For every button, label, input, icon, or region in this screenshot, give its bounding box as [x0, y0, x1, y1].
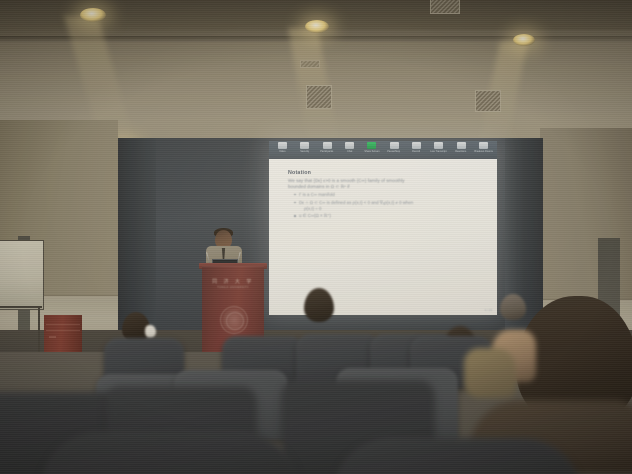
podium-english-name: TONGJI UNIVERSITY — [202, 286, 264, 289]
shield-icon — [300, 142, 309, 149]
hvac-vent — [430, 0, 460, 14]
toolbar-label: Breakout Rooms — [474, 150, 493, 153]
pause-icon — [390, 142, 399, 149]
toolbar-item-transcript[interactable]: Live Transcript — [430, 142, 448, 153]
toolbar-item-chat[interactable]: Chat — [340, 142, 358, 153]
lecture-hall-photo: Mic Video Security Participants Chat Sha… — [0, 0, 632, 474]
transcript-icon — [434, 142, 443, 149]
slide-bullet: Γ is a C∞ manifold — [299, 192, 478, 198]
toolbar-item-breakout-rooms[interactable]: Breakout Rooms — [475, 142, 493, 153]
audience-sleeve-right — [464, 348, 516, 398]
presentation-slide: Notation We say that {Dε} ε>0 is a smoot… — [269, 159, 497, 315]
toolbar-item-share-screen[interactable]: Share Screen — [363, 142, 381, 153]
hvac-vent — [300, 60, 320, 68]
toolbar-label: Video — [279, 150, 285, 153]
slide-content: Notation We say that {Dε} ε>0 is a smoot… — [288, 170, 478, 219]
toolbar-item-record[interactable]: Record — [408, 142, 426, 153]
breakout-rooms-icon — [479, 142, 488, 149]
toolbar-item-video[interactable]: Video — [273, 142, 291, 153]
slide-bullet-continuation: ρ(x,t) = 0 — [304, 206, 478, 211]
toolbar-label: Participants — [321, 150, 334, 153]
cabinet-handle — [49, 336, 56, 338]
toolbar-item-pause[interactable]: Pause/Stop — [385, 142, 403, 153]
screen-wall-left-panel — [118, 138, 156, 333]
whiteboard — [0, 240, 44, 310]
toolbar-label: Live Transcript — [431, 150, 447, 153]
share-screen-icon — [367, 142, 376, 149]
face-mask — [145, 325, 156, 338]
toolbar-label: Pause/Stop — [388, 150, 401, 153]
toolbar-item-security[interactable]: Security — [296, 142, 314, 153]
toolbar-label: Record — [412, 150, 420, 153]
hvac-vent — [475, 90, 501, 112]
seat[interactable] — [40, 432, 300, 474]
university-seal — [220, 306, 248, 334]
reactions-icon — [457, 142, 466, 149]
audience-member-right-rear — [500, 294, 526, 320]
toolbar-label: Chat — [347, 150, 352, 153]
podium-chinese-name: 同 济 大 学 — [202, 278, 264, 285]
audience-member-center — [304, 288, 334, 322]
participants-icon — [323, 142, 332, 149]
toolbar-label: Reactions — [456, 150, 467, 153]
toolbar-item-reactions[interactable]: Reactions — [452, 142, 470, 153]
hvac-vent — [306, 85, 332, 109]
ceiling-light — [305, 20, 329, 33]
cabinet-line — [46, 330, 80, 331]
slide-line: bounded domains in Ω ⊂ ℝⁿ if — [288, 184, 478, 190]
whiteboard-stand-rail — [0, 306, 42, 308]
ceiling-light — [80, 8, 106, 22]
record-icon — [412, 142, 421, 149]
chat-icon — [345, 142, 354, 149]
toolbar-item-participants[interactable]: Participants — [318, 142, 336, 153]
toolbar-label: Share Screen — [364, 150, 379, 153]
slide-page-number: 4 / 29 — [484, 308, 492, 312]
seat[interactable] — [332, 438, 582, 474]
camera-icon — [278, 142, 287, 149]
toolbar-label: Security — [300, 150, 309, 153]
projection-screen: Mic Video Security Participants Chat Sha… — [269, 141, 497, 315]
slide-bullet: u ∈ C∞(Ω × ℝ⁺) — [299, 213, 478, 219]
cabinet-line — [46, 324, 80, 325]
ceiling-light — [513, 34, 535, 46]
slide-title: Notation — [288, 170, 478, 176]
